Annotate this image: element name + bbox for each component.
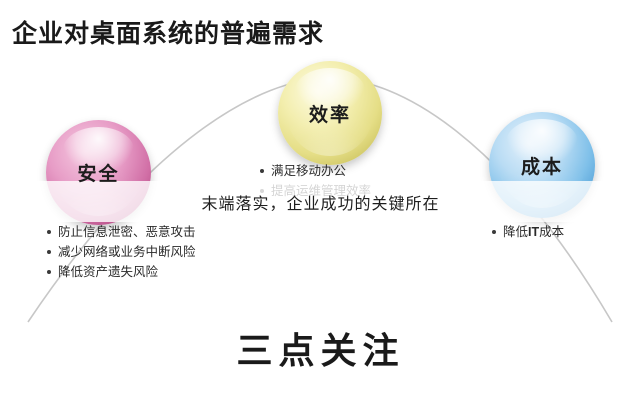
list-item: 降低资产遗失风险 — [47, 262, 196, 282]
bullet-list-security: 防止信息泄密、恶意攻击 减少网络或业务中断风险 降低资产遗失风险 — [47, 222, 196, 282]
cost-suffix: 成本 — [539, 225, 564, 239]
bottom-heading: 三点关注 — [0, 322, 641, 374]
overlay-banner-text: 末端落实，企业成功的关键所在 — [201, 190, 439, 214]
slide-canvas: 企业对桌面系统的普遍需求 安全 效率 成本 防止信息泄密、恶意攻击 减少网络或业… — [0, 0, 641, 400]
cost-bold: IT — [528, 225, 539, 239]
overlay-banner: 末端落实，企业成功的关键所在 — [0, 181, 641, 222]
list-item: 防止信息泄密、恶意攻击 — [47, 222, 196, 242]
list-item: 降低IT成本 — [492, 222, 564, 242]
list-item: 满足移动办公 — [260, 161, 371, 181]
sphere-label-efficiency: 效率 — [309, 100, 351, 127]
sphere-efficiency: 效率 — [278, 61, 382, 165]
sphere-label-cost: 成本 — [521, 152, 563, 179]
cost-prefix: 降低 — [503, 225, 528, 239]
bullet-list-cost: 降低IT成本 — [492, 222, 564, 242]
list-item: 减少网络或业务中断风险 — [47, 242, 196, 262]
sphere-label-security: 安全 — [77, 159, 119, 186]
